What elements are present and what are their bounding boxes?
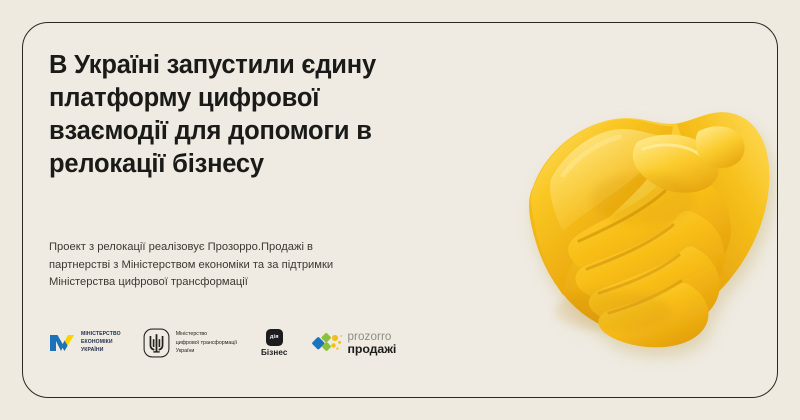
text-column: В Україні запустили єдину платформу цифр… xyxy=(49,49,469,182)
promo-banner: В Україні запустили єдину платформу цифр… xyxy=(0,0,800,420)
subtext: Проект з релокації реалізовує Прозорро.П… xyxy=(49,239,449,292)
logo-ministry-of-economy: Міністерство економіки України xyxy=(49,317,121,369)
prozorro-wordmark-top: prozorro xyxy=(348,331,397,343)
logo-ministry-of-digital-transformation: Міністерство цифрової трансформації Укра… xyxy=(143,317,237,369)
headline: В Україні запустили єдину платформу цифр… xyxy=(49,49,469,182)
diia-app-icon-label: дія xyxy=(270,335,279,341)
ukraine-trident-icon xyxy=(143,328,170,358)
prozorro-diamonds-mark xyxy=(312,329,343,357)
checkmark-m-mark xyxy=(49,332,75,354)
logo-diia-business: дія Бізнес xyxy=(261,317,287,369)
logo-ministry-of-economy-text: Міністерство економіки України xyxy=(81,331,121,354)
logo-row: Міністерство економіки України xyxy=(49,317,396,369)
logo-ministry-of-digital-transformation-text: Міністерство цифрової трансформації Укра… xyxy=(176,330,237,356)
diia-app-icon: дія xyxy=(266,329,283,346)
logo-diia-business-caption: Бізнес xyxy=(261,348,287,357)
prozorro-wordmark-bottom: продажі xyxy=(348,343,397,355)
logo-prozorro-prodazhi-text: prozorro продажі xyxy=(348,331,397,356)
handshake-emoji xyxy=(493,79,778,379)
logo-prozorro-prodazhi: prozorro продажі xyxy=(312,317,397,369)
banner-frame: В Україні запустили єдину платформу цифр… xyxy=(22,22,778,398)
